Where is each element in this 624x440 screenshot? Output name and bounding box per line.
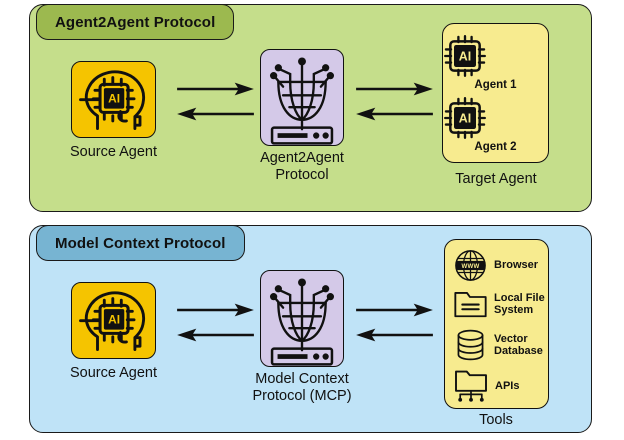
a2a-arrow-target-to-protocol (352, 106, 437, 122)
tool-item-apis[interactable]: APIs (453, 368, 550, 404)
tab-model-context-protocol[interactable]: Model Context Protocol (36, 225, 245, 261)
database-cylinder-icon (455, 328, 486, 362)
network-hub-icon (262, 52, 342, 145)
a2a-target-agent-label: Target Agent (424, 171, 568, 188)
tool-item-local-file-system[interactable]: Local File System (453, 288, 550, 320)
a2a-source-agent-label: Source Agent (41, 144, 186, 161)
panel-agent2agent: Agent2Agent Protocol Source Agent Agent2… (29, 4, 592, 212)
mcp-protocol-box[interactable] (260, 270, 344, 367)
mcp-source-agent-label: Source Agent (41, 365, 186, 382)
mcp-arrow-protocol-to-source (173, 327, 258, 343)
a2a-arrow-protocol-to-source (173, 106, 258, 122)
ai-head-icon (72, 62, 157, 139)
mcp-arrow-protocol-to-tools (352, 302, 437, 318)
mcp-source-agent-box[interactable] (71, 282, 156, 359)
network-hub-icon (262, 273, 342, 366)
mcp-protocol-label-line2: Protocol (MCP) (226, 388, 378, 405)
mcp-arrow-tools-to-protocol (352, 327, 437, 343)
panel-model-context-protocol: Model Context Protocol Source Agent Mode… (29, 225, 592, 433)
a2a-protocol-label: Agent2Agent Protocol (232, 150, 372, 183)
mcp-protocol-label-line1: Model Context (226, 371, 378, 388)
target-agent-item-2[interactable]: Agent 2 (443, 96, 548, 153)
folder-api-tree-icon (453, 368, 489, 404)
globe-www-icon (453, 248, 488, 283)
target-agent-item-2-label: Agent 2 (443, 141, 548, 153)
mcp-protocol-label: Model Context Protocol (MCP) (226, 371, 378, 404)
target-agent-item-1-label: Agent 1 (443, 79, 548, 91)
a2a-protocol-label-line2: Protocol (232, 167, 372, 184)
tool-item-apis-label: APIs (495, 380, 519, 392)
tool-item-browser-label: Browser (494, 259, 538, 271)
a2a-arrow-source-to-protocol (173, 81, 258, 97)
a2a-arrow-protocol-to-target (352, 81, 437, 97)
ai-chip-icon (443, 34, 487, 78)
tool-item-vector-database[interactable]: Vector Database (453, 328, 550, 362)
mcp-tools-label: Tools (424, 412, 568, 429)
a2a-protocol-box[interactable] (260, 49, 344, 146)
folder-file-icon (453, 288, 488, 320)
a2a-target-agent-box[interactable]: Agent 1 Agent 2 (442, 23, 549, 163)
tool-item-vector-database-label: Vector Database (494, 333, 543, 358)
tool-item-browser[interactable]: Browser (453, 248, 550, 283)
tool-item-local-file-system-label: Local File System (494, 292, 545, 317)
mcp-tools-box[interactable]: Browser Local File System Vector Databas… (444, 239, 549, 409)
ai-chip-icon (443, 96, 487, 140)
a2a-protocol-label-line1: Agent2Agent (232, 150, 372, 167)
target-agent-item-1[interactable]: Agent 1 (443, 34, 548, 91)
mcp-arrow-source-to-protocol (173, 302, 258, 318)
tab-agent2agent-protocol[interactable]: Agent2Agent Protocol (36, 4, 234, 40)
a2a-source-agent-box[interactable] (71, 61, 156, 138)
ai-head-icon (72, 283, 157, 360)
